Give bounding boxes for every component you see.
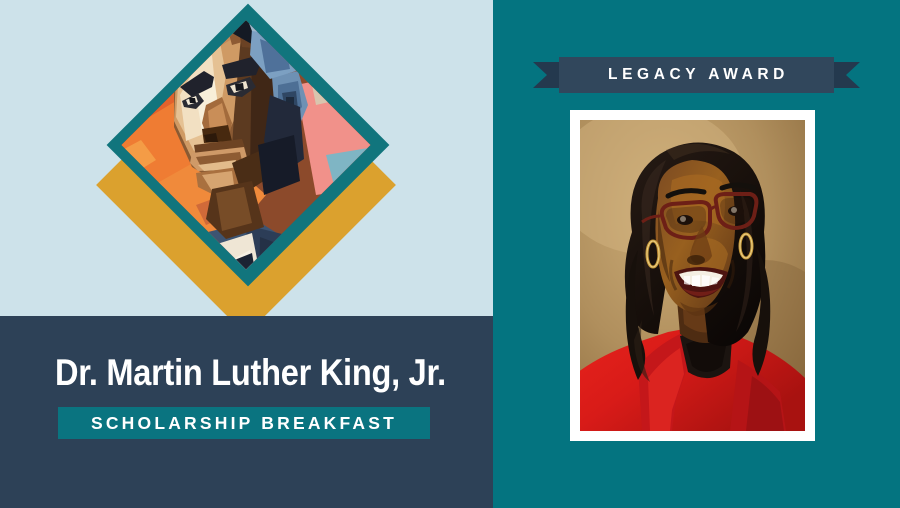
legacy-award-ribbon: LEGACY AWARD [533,57,860,93]
right-panel: LEGACY AWARD [493,0,900,508]
ribbon-body: LEGACY AWARD [559,57,834,93]
mlk-artwork [0,0,493,330]
event-subtitle-bar: SCHOLARSHIP BREAKFAST [58,407,430,439]
event-title: Dr. Martin Luther King, Jr. [55,351,407,395]
honoree-photo-frame [570,110,815,441]
legacy-award-label: LEGACY AWARD [604,66,789,84]
event-subtitle-label: SCHOLARSHIP BREAKFAST [91,413,397,434]
mlk-scholarship-breakfast-poster: Dr. Martin Luther King, Jr. SCHOLARSHIP … [0,0,900,508]
honoree-headshot [580,120,805,431]
left-panel: Dr. Martin Luther King, Jr. SCHOLARSHIP … [0,0,493,508]
